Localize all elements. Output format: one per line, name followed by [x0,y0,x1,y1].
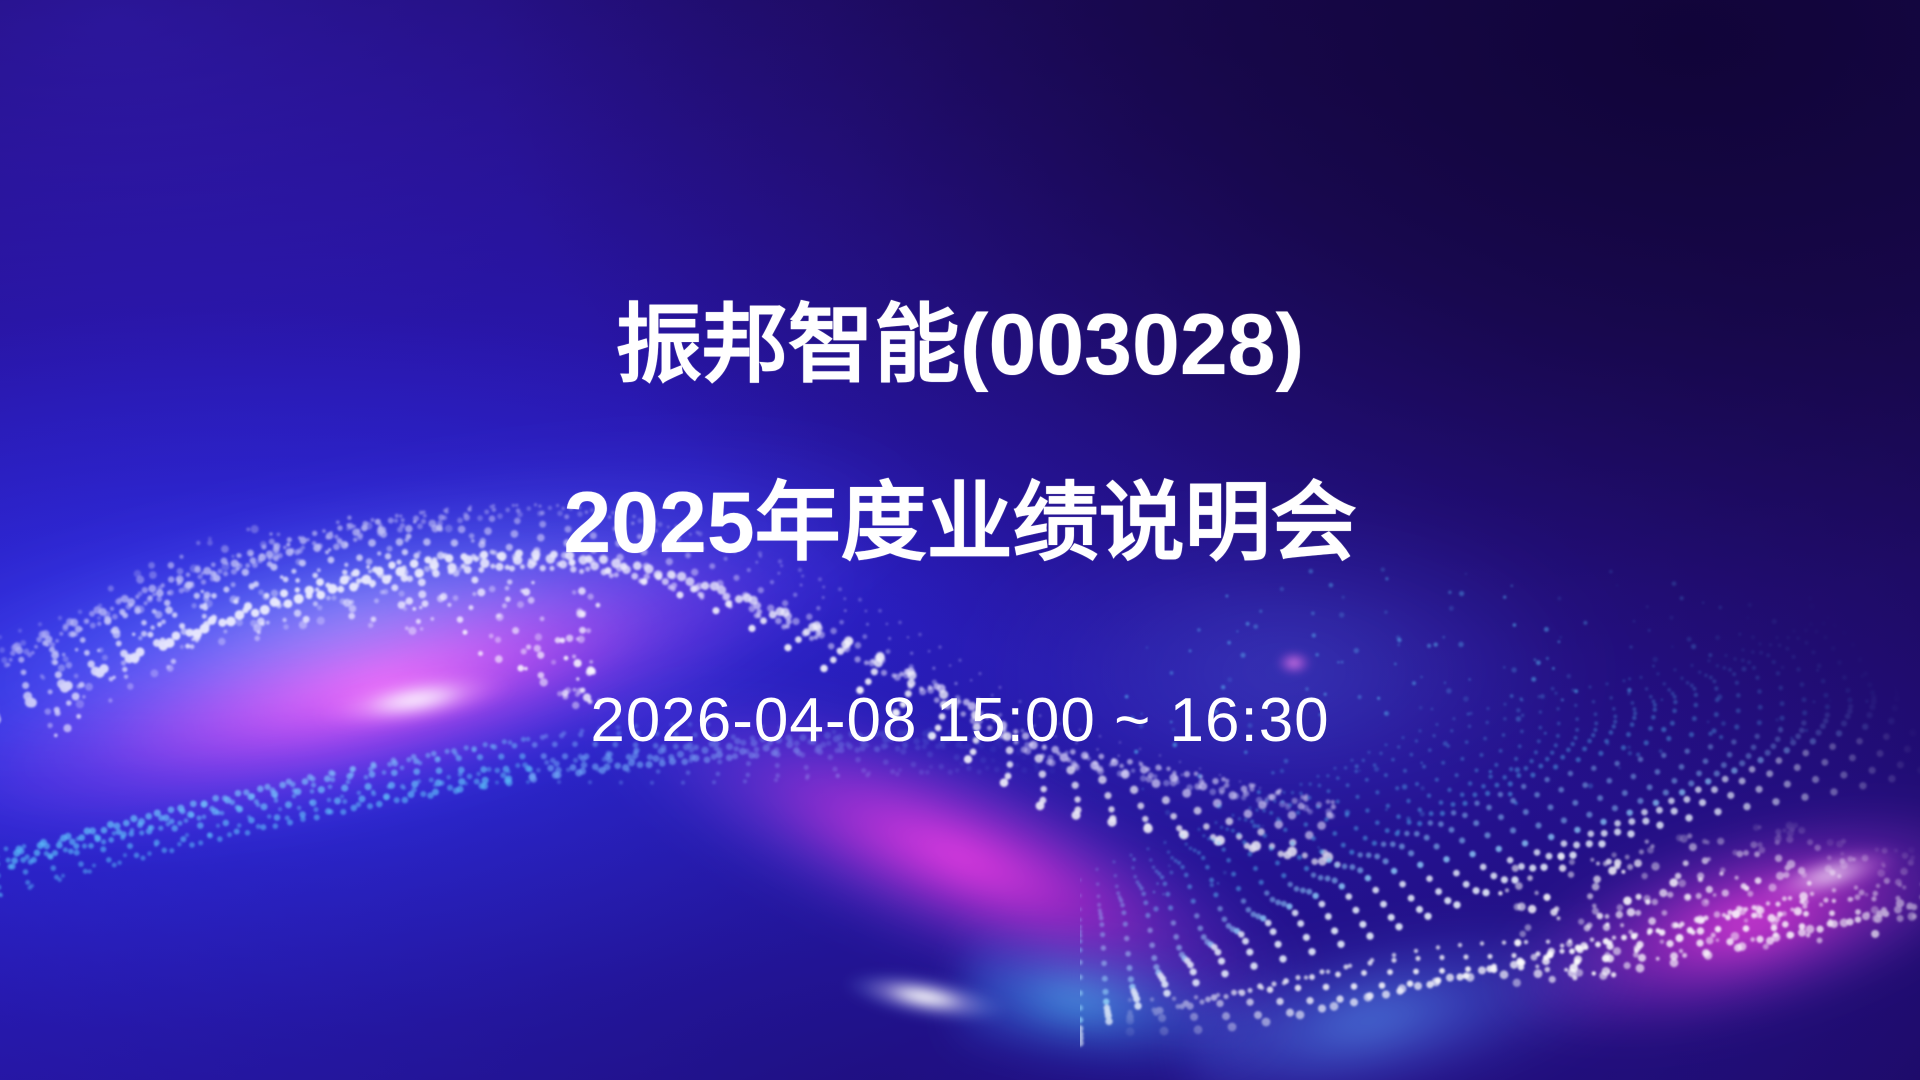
event-banner: 振邦智能(003028) 2025年度业绩说明会 2026-04-08 15:0… [0,0,1920,1080]
company-title: 振邦智能(003028) [0,300,1920,390]
event-title: 2025年度业绩说明会 [0,478,1920,568]
event-datetime: 2026-04-08 15:00 ~ 16:30 [0,688,1920,753]
banner-text-block: 振邦智能(003028) 2025年度业绩说明会 2026-04-08 15:0… [0,0,1920,1080]
